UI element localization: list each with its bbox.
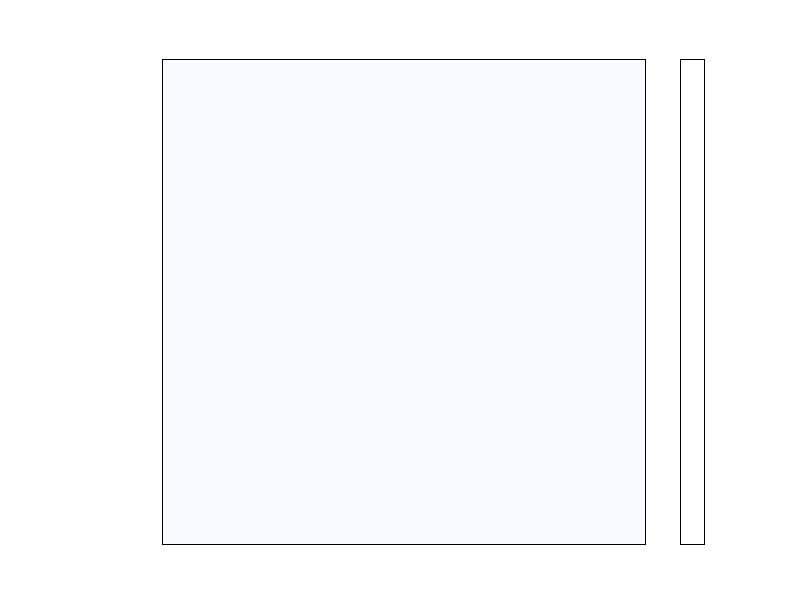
heatmap-axes bbox=[162, 59, 646, 545]
colorbar bbox=[680, 59, 705, 545]
heatmap-matrix bbox=[163, 60, 645, 544]
colorbar-gradient bbox=[681, 60, 704, 544]
figure-canvas bbox=[0, 0, 800, 600]
